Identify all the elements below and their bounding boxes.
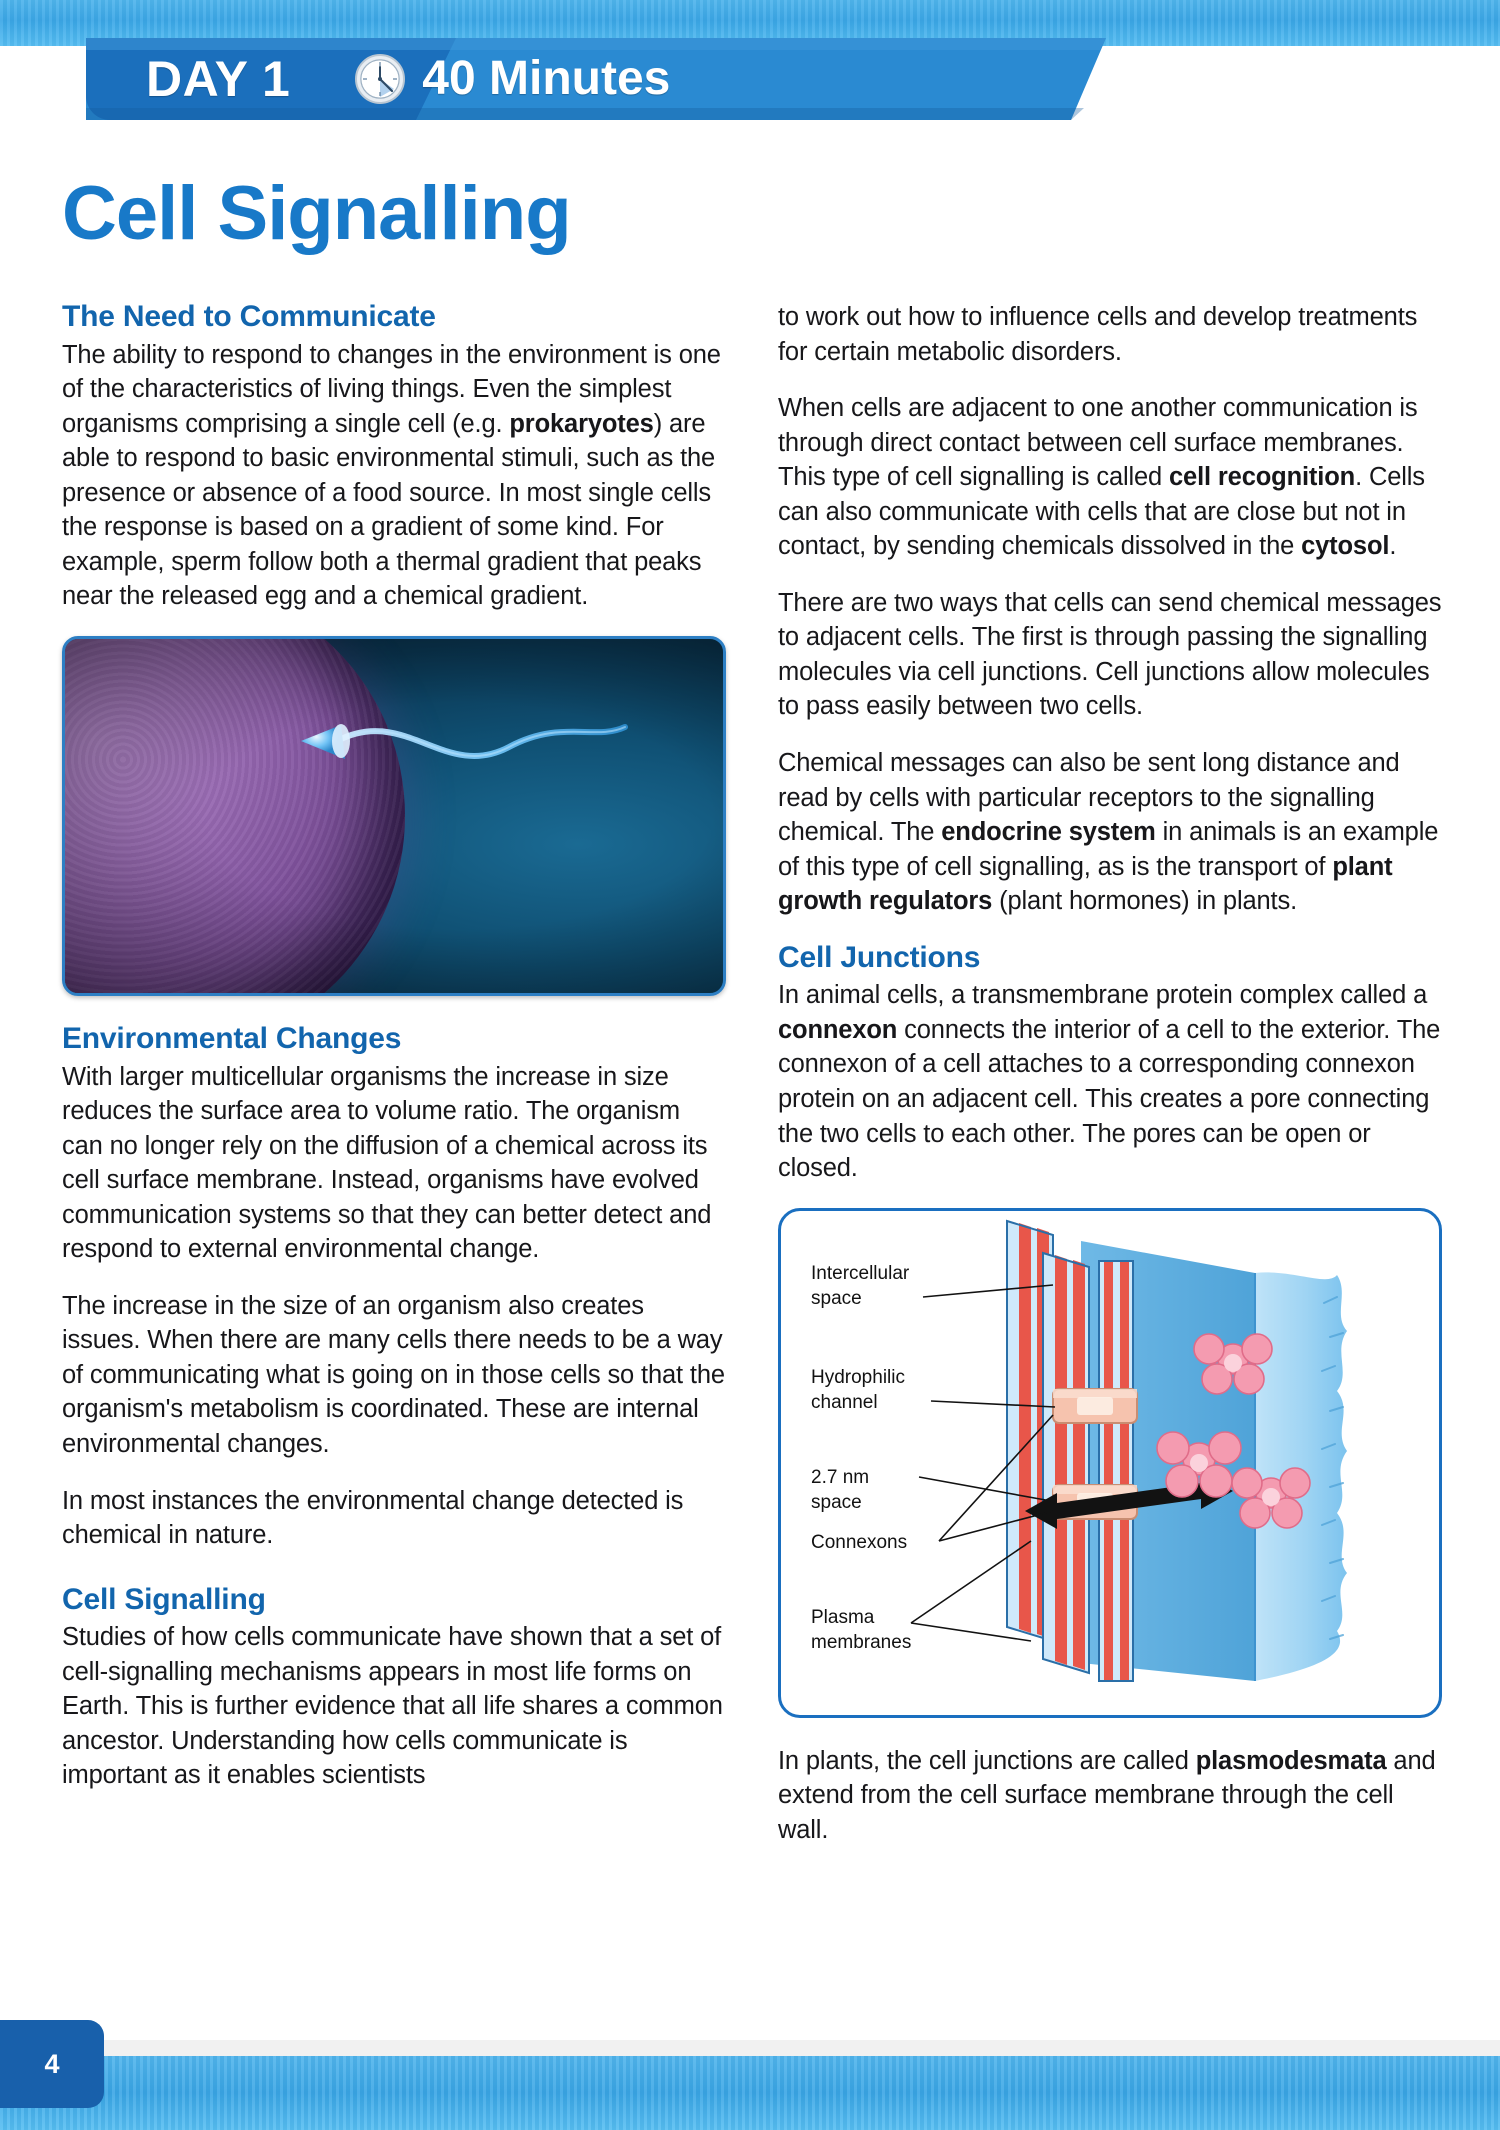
paragraph-plasmodesmata: In plants, the cell junctions are called… <box>778 1744 1442 1848</box>
label-27nm-space-line1: 2.7 nm <box>811 1467 869 1488</box>
text-segment: . <box>1389 532 1396 560</box>
time-plate: 40 Minutes <box>336 38 710 120</box>
paragraph-need-to-communicate: The ability to respond to changes in the… <box>62 338 726 614</box>
page-number: 4 <box>44 2049 59 2080</box>
heading-the-need-to-communicate: The Need to Communicate <box>62 300 726 334</box>
label-connexons: Connexons <box>811 1532 907 1553</box>
day-label: DAY 1 <box>146 54 290 104</box>
term-cytosol: cytosol <box>1301 532 1389 560</box>
day-time-banner: DAY 1 40 <box>86 38 1106 120</box>
page-title: Cell Signalling <box>62 176 571 252</box>
paragraph-environmental-changes-3: In most instances the environmental chan… <box>62 1484 726 1553</box>
heading-environmental-changes: Environmental Changes <box>62 1022 726 1056</box>
time-label: 40 Minutes <box>422 55 670 103</box>
textbook-page: DAY 1 40 <box>0 0 1500 2130</box>
paragraph-cell-signalling-1: Studies of how cells communicate have sh… <box>62 1620 726 1793</box>
label-hydrophilic-channel-line1: Hydrophilic <box>811 1367 905 1388</box>
paragraph-right-3: There are two ways that cells can send c… <box>778 586 1442 724</box>
term-plasmodesmata: plasmodesmata <box>1196 1747 1387 1775</box>
label-27nm-space-line2: space <box>811 1492 862 1513</box>
paragraph-right-1: to work out how to influence cells and d… <box>778 300 1442 369</box>
footer-white-band <box>0 2040 1500 2056</box>
text-segment: In animal cells, a transmembrane protein… <box>778 981 1427 1009</box>
text-segment: In plants, the cell junctions are called <box>778 1747 1196 1775</box>
text-segment: ) are able to respond to basic environme… <box>62 410 715 611</box>
term-prokaryotes: prokaryotes <box>509 410 653 438</box>
paragraph-right-4: Chemical messages can also be sent long … <box>778 746 1442 919</box>
term-cell-recognition: cell recognition <box>1169 463 1355 491</box>
paragraph-environmental-changes-1: With larger multicellular organisms the … <box>62 1060 726 1267</box>
bottom-decorative-strip <box>0 2056 1500 2130</box>
label-hydrophilic-channel-line2: channel <box>811 1392 878 1413</box>
heading-cell-signalling: Cell Signalling <box>62 1583 726 1617</box>
plasma-membranes <box>1007 1221 1133 1681</box>
paragraph-environmental-changes-2: The increase in the size of an organism … <box>62 1289 726 1462</box>
day-plate: DAY 1 <box>86 38 336 120</box>
connexon-gap-junction-diagram: Intercellular space Hydrophilic channel … <box>781 1211 1439 1715</box>
connexon-figure: Intercellular space Hydrophilic channel … <box>778 1208 1442 1718</box>
sperm-cell-image <box>295 719 725 919</box>
page-number-tab: 4 <box>0 2020 104 2108</box>
right-column: to work out how to influence cells and d… <box>778 300 1442 1847</box>
label-intercellular-space-line1: Intercellular <box>811 1263 910 1284</box>
label-plasma-membranes-line1: Plasma <box>811 1607 875 1628</box>
term-endocrine-system: endocrine system <box>941 818 1155 846</box>
heading-cell-junctions: Cell Junctions <box>778 941 1442 975</box>
clock-icon <box>354 53 406 105</box>
left-column: The Need to Communicate The ability to r… <box>62 300 726 1793</box>
sperm-egg-photo <box>62 636 726 996</box>
label-intercellular-space-line2: space <box>811 1288 862 1309</box>
label-plasma-membranes-line2: membranes <box>811 1632 911 1653</box>
text-segment: (plant hormones) in plants. <box>992 887 1297 915</box>
paragraph-right-2: When cells are adjacent to one another c… <box>778 391 1442 564</box>
paragraph-cell-junctions: In animal cells, a transmembrane protein… <box>778 978 1442 1185</box>
term-connexon: connexon <box>778 1016 897 1044</box>
figure-labels: Intercellular space Hydrophilic channel … <box>811 1263 911 1653</box>
